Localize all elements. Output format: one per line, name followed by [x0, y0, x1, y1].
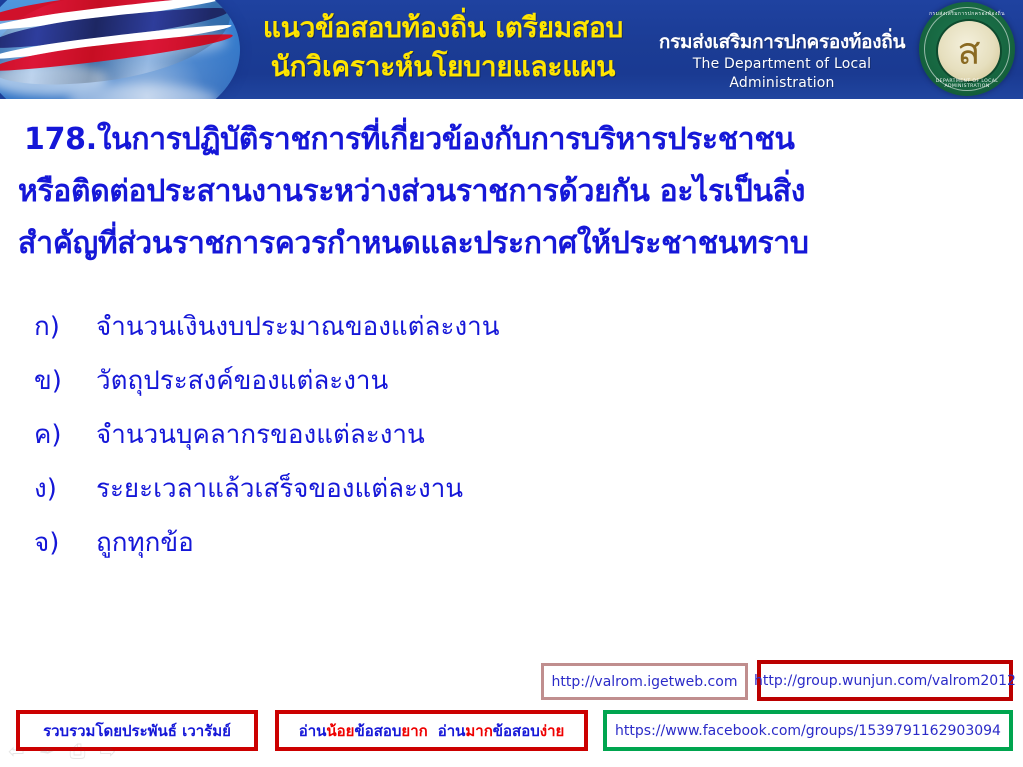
motto-part-4: ยาก [401, 722, 427, 740]
forward-arrow-icon: ⇨ [100, 738, 117, 764]
motto-part-2: น้อย [326, 722, 354, 740]
motto-part-6: มาก [465, 722, 492, 740]
header-banner: แนวข้อสอบท้องถิ่น เตรียมสอบ นักวิเคราะห์… [0, 0, 1023, 99]
choice-marker: ก) [34, 300, 96, 354]
thai-flag-icon [0, 0, 236, 95]
link-text-wunjun: http://group.wunjun.com/valrom2012 [754, 673, 1016, 689]
thai-flag-image [0, 0, 240, 99]
banner-title-line2: นักวิเคราะห์นโยบายและแผน [218, 47, 668, 86]
motto-part-5: อ่าน [438, 722, 466, 740]
banner-title-line1: แนวข้อสอบท้องถิ่น เตรียมสอบ [263, 11, 623, 44]
lion-emblem-icon: ส [948, 29, 990, 73]
choice-label: ระยะเวลาแล้วเสร็จของแต่ละงาน [96, 462, 834, 516]
motto-part-1: อ่าน [299, 722, 327, 740]
choice-marker: ง) [34, 462, 96, 516]
back-arrow-icon: ⇦ [8, 738, 25, 764]
question-text: 178.ในการปฏิบัติราชการที่เกี่ยวข้องกับกา… [18, 114, 1008, 270]
seal-inner-disc: ส [936, 19, 1002, 83]
banner-title: แนวข้อสอบท้องถิ่น เตรียมสอบ นักวิเคราะห์… [218, 8, 668, 86]
choice-label: จำนวนบุคลากรของแต่ละงาน [96, 408, 834, 462]
link-box-facebook[interactable]: https://www.facebook.com/groups/15397911… [603, 710, 1013, 751]
seal-arc-top-text: กรมส่งเสริมการปกครองท้องถิ่น [919, 10, 1015, 18]
pen-icon: ✒ [39, 738, 56, 764]
flag-shading [0, 0, 236, 95]
choice-marker: ค) [34, 408, 96, 462]
link-box-igetweb[interactable]: http://valrom.igetweb.com [541, 663, 748, 700]
motto-part-3: ข้อสอบ [354, 722, 401, 740]
motto-text: อ่านน้อยข้อสอบยากอ่านมากข้อสอบง่าย [299, 719, 565, 743]
link-text-igetweb: http://valrom.igetweb.com [552, 674, 738, 690]
choice-marker: ข) [34, 354, 96, 408]
watermark-toolbar: ⇦ ✒ ⎙ ⇨ [8, 738, 188, 764]
department-name: กรมส่งเสริมการปกครองท้องถิ่น The Departm… [648, 30, 916, 93]
question-line-2: หรือติดต่อประสานงานระหว่างส่วนราชการด้วย… [18, 166, 1008, 218]
motto-box: อ่านน้อยข้อสอบยากอ่านมากข้อสอบง่าย [275, 710, 588, 751]
answer-choice-c[interactable]: ค) จำนวนบุคลากรของแต่ละงาน [34, 408, 834, 462]
answer-choice-d[interactable]: ง) ระยะเวลาแล้วเสร็จของแต่ละงาน [34, 462, 834, 516]
department-name-thai: กรมส่งเสริมการปกครองท้องถิ่น [648, 30, 916, 55]
choice-label: ถูกทุกข้อ [96, 516, 834, 570]
choice-marker: จ) [34, 516, 96, 570]
motto-part-8: ง่าย [540, 722, 565, 740]
answer-choice-b[interactable]: ข) วัตถุประสงค์ของแต่ละงาน [34, 354, 834, 408]
printer-icon: ⎙ [70, 738, 86, 764]
choice-label: จำนวนเงินงบประมาณของแต่ละงาน [96, 300, 834, 354]
question-line-3: สำคัญที่ส่วนราชการควรกำหนดและประกาศให้ปร… [18, 218, 1008, 270]
answer-choices-list: ก) จำนวนเงินงบประมาณของแต่ละงาน ข) วัตถุ… [34, 300, 834, 570]
department-name-english: The Department of Local Administration [648, 55, 916, 93]
link-box-wunjun[interactable]: http://group.wunjun.com/valrom2012 [757, 660, 1013, 701]
link-text-facebook: https://www.facebook.com/groups/15397911… [615, 723, 1001, 739]
question-line-1: 178.ในการปฏิบัติราชการที่เกี่ยวข้องกับกา… [18, 114, 1008, 166]
answer-choice-a[interactable]: ก) จำนวนเงินงบประมาณของแต่ละงาน [34, 300, 834, 354]
motto-part-7: ข้อสอบ [493, 722, 540, 740]
department-seal-icon: กรมส่งเสริมการปกครองท้องถิ่น ส DEPARTMEN… [919, 2, 1015, 96]
seal-arc-bottom-text: DEPARTMENT OF LOCAL ADMINISTRATION [919, 79, 1015, 89]
choice-label: วัตถุประสงค์ของแต่ละงาน [96, 354, 834, 408]
slide-canvas: แนวข้อสอบท้องถิ่น เตรียมสอบ นักวิเคราะห์… [0, 0, 1023, 767]
answer-choice-e[interactable]: จ) ถูกทุกข้อ [34, 516, 834, 570]
